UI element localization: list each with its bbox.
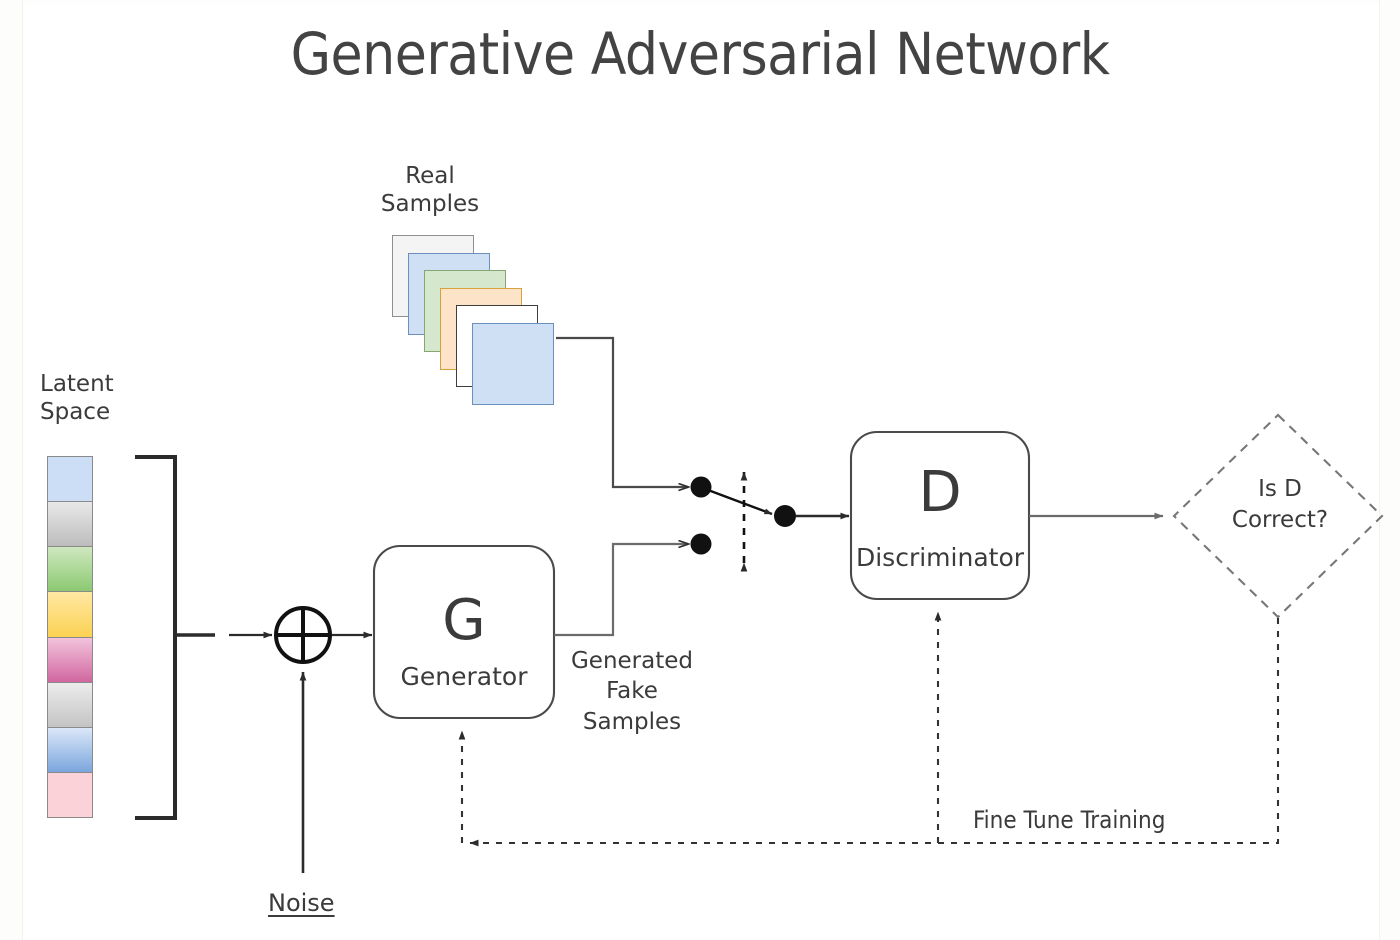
latent-space-bracket [135,457,175,818]
diagram-canvas: Generative Adversarial Network Latent Sp… [0,0,1400,940]
connector-layer [0,0,1400,940]
switch-contact-fake[interactable] [691,534,712,555]
edge-generator-to-switch [554,544,688,635]
decision-diamond[interactable] [1174,415,1382,617]
edge-real-to-switch [556,338,688,487]
discriminator-node[interactable] [851,432,1029,599]
generator-node[interactable] [374,546,554,718]
switch-contact-real[interactable] [691,477,712,498]
switch-pole[interactable] [774,505,796,527]
edge-feedback-main [470,618,1278,843]
plus-circle-icon [276,608,330,662]
switch-blade [708,490,772,514]
